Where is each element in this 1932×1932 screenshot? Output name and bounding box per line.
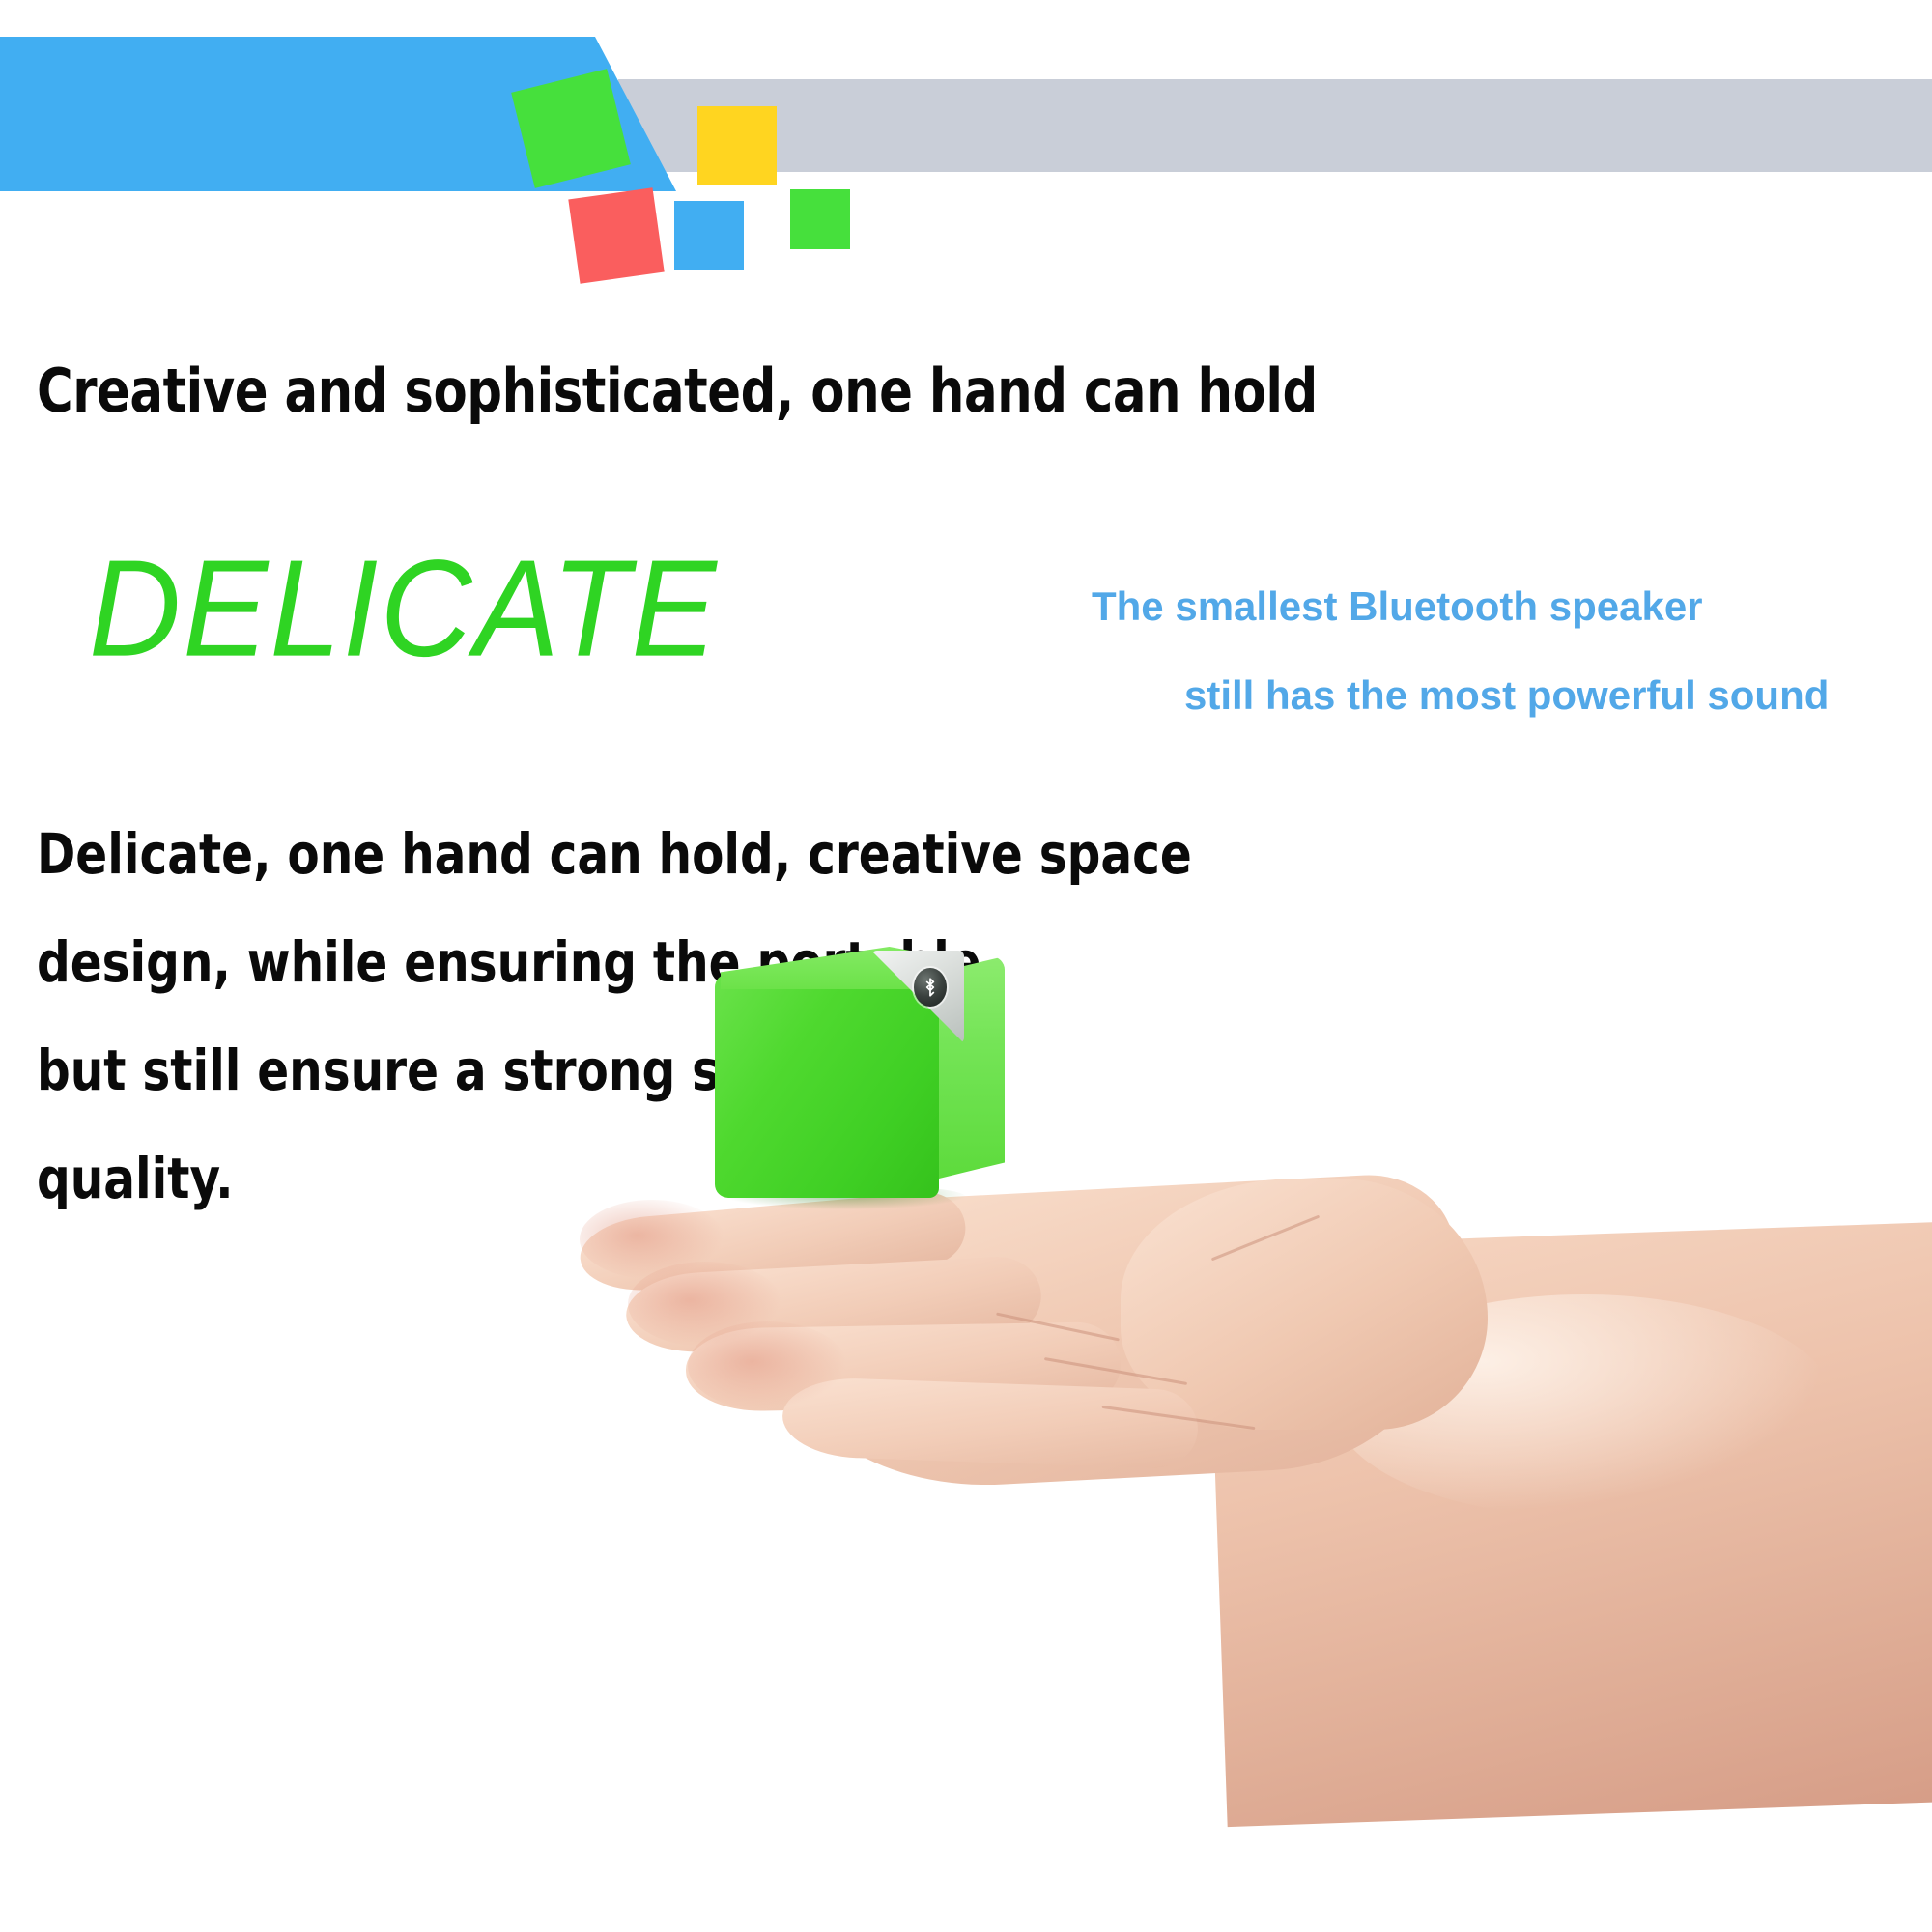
- tagline-line-1: The smallest Bluetooth speaker: [1092, 562, 1932, 651]
- product-marketing-page: Creative and sophisticated, one hand can…: [0, 0, 1932, 1932]
- product-photo: [541, 947, 1932, 1816]
- bluetooth-button[interactable]: [914, 968, 947, 1007]
- fingertip-shading-3: [688, 1321, 847, 1410]
- page-headline: Creative and sophisticated, one hand can…: [37, 355, 1318, 426]
- thumb-mound: [1121, 1179, 1488, 1430]
- blue-square-small-shape: [674, 201, 744, 270]
- red-square-shape: [568, 187, 664, 283]
- tagline-block: The smallest Bluetooth speaker still has…: [1092, 562, 1932, 740]
- decorative-banner: [0, 0, 1932, 290]
- bluetooth-speaker-cube: [715, 947, 1005, 1198]
- tagline-line-2: still has the most powerful sound: [1092, 651, 1932, 740]
- body-copy-line-1: Delicate, one hand can hold, creative sp…: [37, 800, 1192, 908]
- yellow-square-shape: [697, 106, 777, 185]
- gray-bar-shape: [618, 79, 1932, 172]
- speaker-front-face: [715, 974, 939, 1198]
- bluetooth-icon: [923, 977, 937, 998]
- green-square-small-shape: [790, 189, 850, 249]
- feature-word-delicate: DELICATE: [89, 529, 719, 687]
- finger-little: [781, 1377, 1200, 1470]
